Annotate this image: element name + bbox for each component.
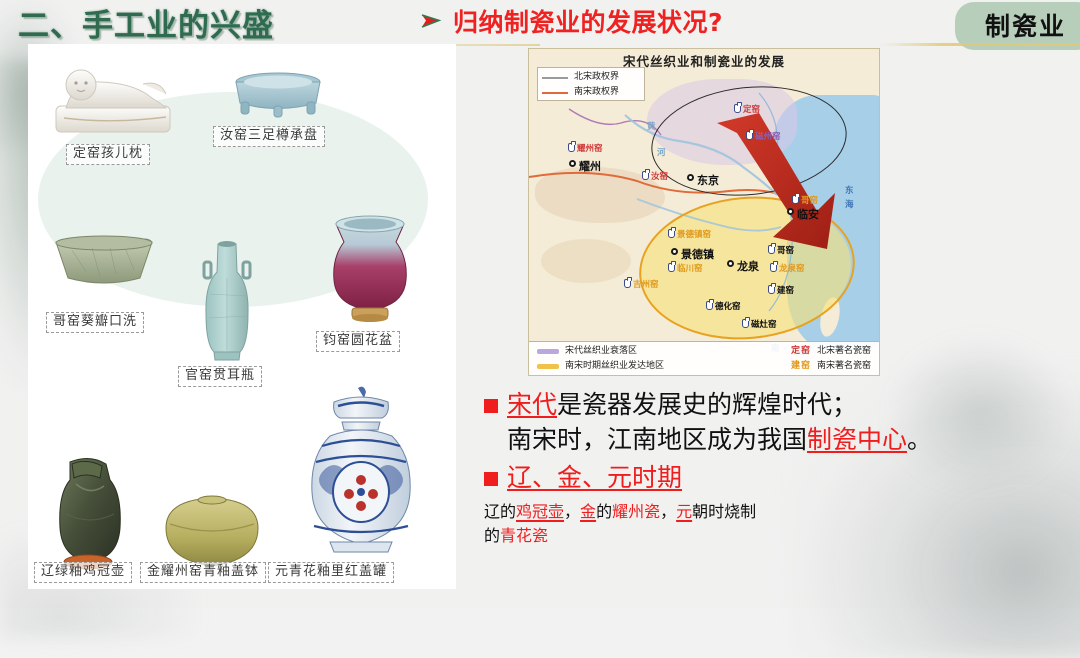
map-place-label: 东	[845, 187, 854, 196]
map-kiln-icon	[642, 171, 649, 180]
artifact-image-ceramic-tube-ear-vase	[196, 238, 258, 366]
artifact-image-ceramic-cockscomb-ewer	[46, 454, 132, 574]
artifact-image-ceramic-round-flowerpot	[328, 214, 412, 326]
map-kiln-icon	[668, 229, 675, 238]
map-city-dot	[569, 160, 576, 167]
note-line-4: 辽的鸡冠壶，金的耀州瓷，元朝时烧制	[484, 498, 1074, 522]
artifact-caption: 定窑孩儿枕	[66, 144, 150, 165]
artifact-image-ceramic-pillow-boy	[48, 58, 178, 136]
map-place-label: 河	[657, 149, 666, 158]
note-line-2: 南宋时，江南地区成为我国制瓷中心。	[484, 423, 1074, 458]
artifact-caption: 哥窑葵瓣口洗	[46, 312, 144, 333]
map-kiln-icon	[668, 263, 675, 272]
artifact-caption: 元青花釉里红盖罐	[268, 562, 394, 583]
page-title: 二、手工业的兴盛	[18, 0, 274, 45]
map-place-label: 龙泉	[737, 261, 759, 272]
map-place-label: 定窑	[743, 106, 760, 115]
map-place-label: 磁灶窑	[751, 321, 777, 330]
map-place-label: 龙泉窑	[779, 265, 805, 274]
map-place-label: 吉州窑	[633, 281, 659, 290]
legend-label: 南宋政权界	[574, 85, 619, 100]
slide-root: 二、手工业的兴盛 归纳制瓷业的发展状况? 制瓷业	[0, 0, 1080, 608]
map-kiln-icon	[768, 245, 775, 254]
map-legend-borders: 北宋政权界 南宋政权界	[537, 67, 645, 101]
artifact-image-ceramic-blue-white-jar	[300, 384, 422, 560]
question-block: 归纳制瓷业的发展状况?	[420, 3, 723, 39]
map-kiln-icon	[624, 279, 631, 288]
map-city-dot	[727, 260, 734, 267]
map-kiln-icon	[706, 301, 713, 310]
map-place-label: 东京	[697, 175, 719, 186]
note-line-1: 宋代是瓷器发展史的辉煌时代；	[484, 388, 1074, 423]
legend-line-northern-song	[542, 77, 568, 79]
artifact-caption: 金耀州窑青釉盖钵	[140, 562, 266, 583]
note-highlight: 青花瓷	[500, 526, 548, 545]
artifact-image-ceramic-lobed-basin	[52, 232, 156, 288]
legend-kiln-desc: 北宋著名瓷窑	[817, 345, 871, 357]
map-place-label: 海	[845, 201, 854, 210]
map-place-label: 景德镇窑	[677, 231, 711, 240]
map-city-dot	[671, 248, 678, 255]
artifact-image-ceramic-tripod-dish	[230, 70, 326, 122]
note-plain: 是瓷器发展史的辉煌时代；	[557, 390, 857, 419]
map-place-label: 哥窑	[801, 197, 818, 206]
artifact-caption: 钧窑圆花盆	[316, 331, 400, 352]
legend-kiln-row: 定窑 北宋著名瓷窑	[791, 345, 871, 357]
note-plain: 。	[907, 425, 932, 454]
map-legend-zones: 宋代丝织业衰落区 南宋时期丝织业发达地区 定窑 北宋著名瓷窑 建窑 南宋著名瓷窑	[529, 341, 879, 375]
legend-zone-row: 南宋时期丝织业发达地区	[537, 360, 664, 372]
map-kiln-icon	[770, 263, 777, 272]
bullet-square-icon	[484, 472, 498, 486]
map-place-label: 哥窑	[777, 247, 794, 256]
map-place-label: 黄	[647, 123, 656, 132]
map-place-label: 汝窑	[651, 173, 668, 182]
historical-map: 宋代丝织业和制瓷业的发展	[528, 48, 880, 376]
notes-block: 宋代是瓷器发展史的辉煌时代； 南宋时，江南地区成为我国制瓷中心。 辽、金、元时期…	[484, 388, 1074, 546]
note-text-1: 宋代是瓷器发展史的辉煌时代；	[507, 388, 857, 423]
note-highlight: 金	[580, 502, 596, 521]
map-place-label: 临川窑	[677, 265, 703, 274]
note-plain: 的	[596, 502, 612, 521]
legend-kiln-desc: 南宋著名瓷窑	[817, 360, 871, 372]
legend-zone-column: 宋代丝织业衰落区 南宋时期丝织业发达地区	[537, 345, 664, 372]
legend-line-southern-song	[542, 92, 568, 94]
legend-label: 北宋政权界	[574, 70, 619, 85]
note-highlight: 耀州瓷	[612, 502, 660, 521]
legend-kiln-column: 定窑 北宋著名瓷窑 建窑 南宋著名瓷窑	[791, 345, 871, 372]
artifact-gallery-panel: 定窑孩儿枕 汝窑三足樽承盘	[28, 44, 456, 589]
legend-label: 南宋时期丝织业发达地区	[565, 360, 664, 372]
chip-underline	[880, 43, 1080, 46]
note-plain: 南宋时，江南地区成为我国	[507, 425, 807, 454]
legend-kiln-name: 定窑	[791, 345, 811, 357]
map-place-label: 临安	[797, 209, 819, 220]
map-kiln-icon	[792, 195, 799, 204]
legend-swatch-decline	[537, 349, 559, 354]
note-highlight: 辽、金、元时期	[507, 461, 682, 496]
note-plain: ，	[660, 502, 676, 521]
map-city-dot	[787, 208, 794, 215]
note-plain: 朝时烧制	[692, 502, 756, 521]
legend-label: 宋代丝织业衰落区	[565, 345, 637, 357]
map-city-dot	[687, 174, 694, 181]
note-plain: ，	[564, 502, 580, 521]
legend-kiln-name: 建窑	[791, 360, 811, 372]
note-highlight: 宋代	[507, 390, 557, 419]
note-highlight: 元	[676, 502, 692, 521]
bullet-square-icon	[484, 399, 498, 413]
legend-zone-row: 宋代丝织业衰落区	[537, 345, 664, 357]
map-place-label: 磁州窑	[755, 133, 781, 142]
map-kiln-icon	[734, 104, 741, 113]
note-line-3: 辽、金、元时期	[484, 461, 1074, 496]
map-kiln-icon	[568, 143, 575, 152]
artifact-caption: 汝窑三足樽承盘	[213, 126, 325, 147]
note-line-5: 的青花瓷	[484, 522, 1074, 546]
map-place-label: 景德镇	[681, 249, 714, 260]
note-highlight: 鸡冠壶	[516, 502, 564, 521]
map-place-label: 耀州	[579, 161, 601, 172]
legend-kiln-row: 建窑 南宋著名瓷窑	[791, 360, 871, 372]
note-highlight: 制瓷中心	[807, 425, 907, 454]
artifact-caption: 辽绿釉鸡冠壶	[34, 562, 132, 583]
map-place-label: 耀州窑	[577, 145, 603, 154]
map-kiln-icon	[742, 319, 749, 328]
map-legend-row: 北宋政权界	[542, 70, 640, 85]
map-kiln-icon	[746, 131, 753, 140]
question-text: 归纳制瓷业的发展状况?	[453, 3, 723, 39]
map-legend-row: 南宋政权界	[542, 85, 640, 100]
note-plain: 的	[484, 526, 500, 545]
map-kiln-icon	[768, 285, 775, 294]
map-place-label: 德化窑	[715, 303, 741, 312]
arrow-bullet-icon	[420, 10, 442, 32]
legend-swatch-prosper	[537, 364, 559, 369]
map-place-label: 建窑	[777, 287, 794, 296]
artifact-caption: 官窑贯耳瓶	[178, 366, 262, 387]
map-trend-arrow-icon	[709, 107, 839, 257]
note-plain: 辽的	[484, 502, 516, 521]
